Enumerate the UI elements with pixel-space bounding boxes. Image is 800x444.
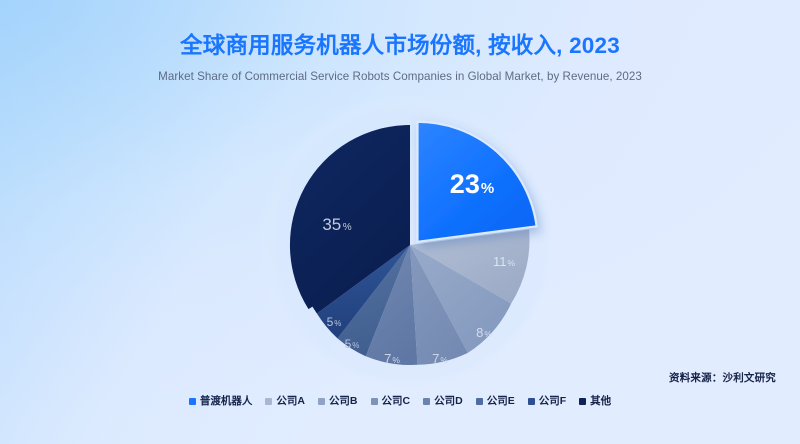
legend-item-7[interactable]: 其他	[579, 396, 611, 407]
legend-item-4[interactable]: 公司D	[423, 396, 463, 407]
chart-legend: 普渡机器人 公司A 公司B 公司C 公司D 公司E 公司F 其他	[0, 396, 800, 407]
legend-swatch-icon	[318, 398, 325, 405]
legend-swatch-icon	[579, 398, 586, 405]
legend-item-5[interactable]: 公司E	[476, 396, 515, 407]
legend-item-3[interactable]: 公司C	[371, 396, 411, 407]
legend-swatch-icon	[476, 398, 483, 405]
legend-label: 公司B	[329, 396, 358, 407]
legend-swatch-icon	[423, 398, 430, 405]
legend-swatch-icon	[265, 398, 272, 405]
legend-label: 公司F	[539, 396, 566, 407]
source-note: 资料来源：沙利文研究	[669, 370, 776, 385]
legend-label: 公司C	[382, 396, 411, 407]
legend-label: 其他	[590, 396, 611, 407]
legend-item-2[interactable]: 公司B	[318, 396, 358, 407]
page-title: 全球商用服务机器人市场份额, 按收入, 2023	[0, 32, 800, 60]
legend-swatch-icon	[528, 398, 535, 405]
legend-item-1[interactable]: 公司A	[265, 396, 305, 407]
legend-label: 公司A	[276, 396, 305, 407]
chart-canvas: 全球商用服务机器人市场份额, 按收入, 2023 Market Share of…	[0, 0, 800, 444]
legend-swatch-icon	[371, 398, 378, 405]
legend-label: 公司E	[487, 396, 515, 407]
pie-chart: 23% 11% 8% 7% 7% 5% 5%	[244, 105, 584, 387]
legend-item-0[interactable]: 普渡机器人	[189, 396, 253, 407]
page-subtitle: Market Share of Commercial Service Robot…	[0, 69, 800, 84]
legend-item-6[interactable]: 公司F	[528, 396, 566, 407]
legend-label: 普渡机器人	[200, 396, 253, 407]
legend-swatch-icon	[189, 398, 196, 405]
legend-label: 公司D	[434, 396, 463, 407]
chart-header: 全球商用服务机器人市场份额, 按收入, 2023 Market Share of…	[0, 32, 800, 84]
